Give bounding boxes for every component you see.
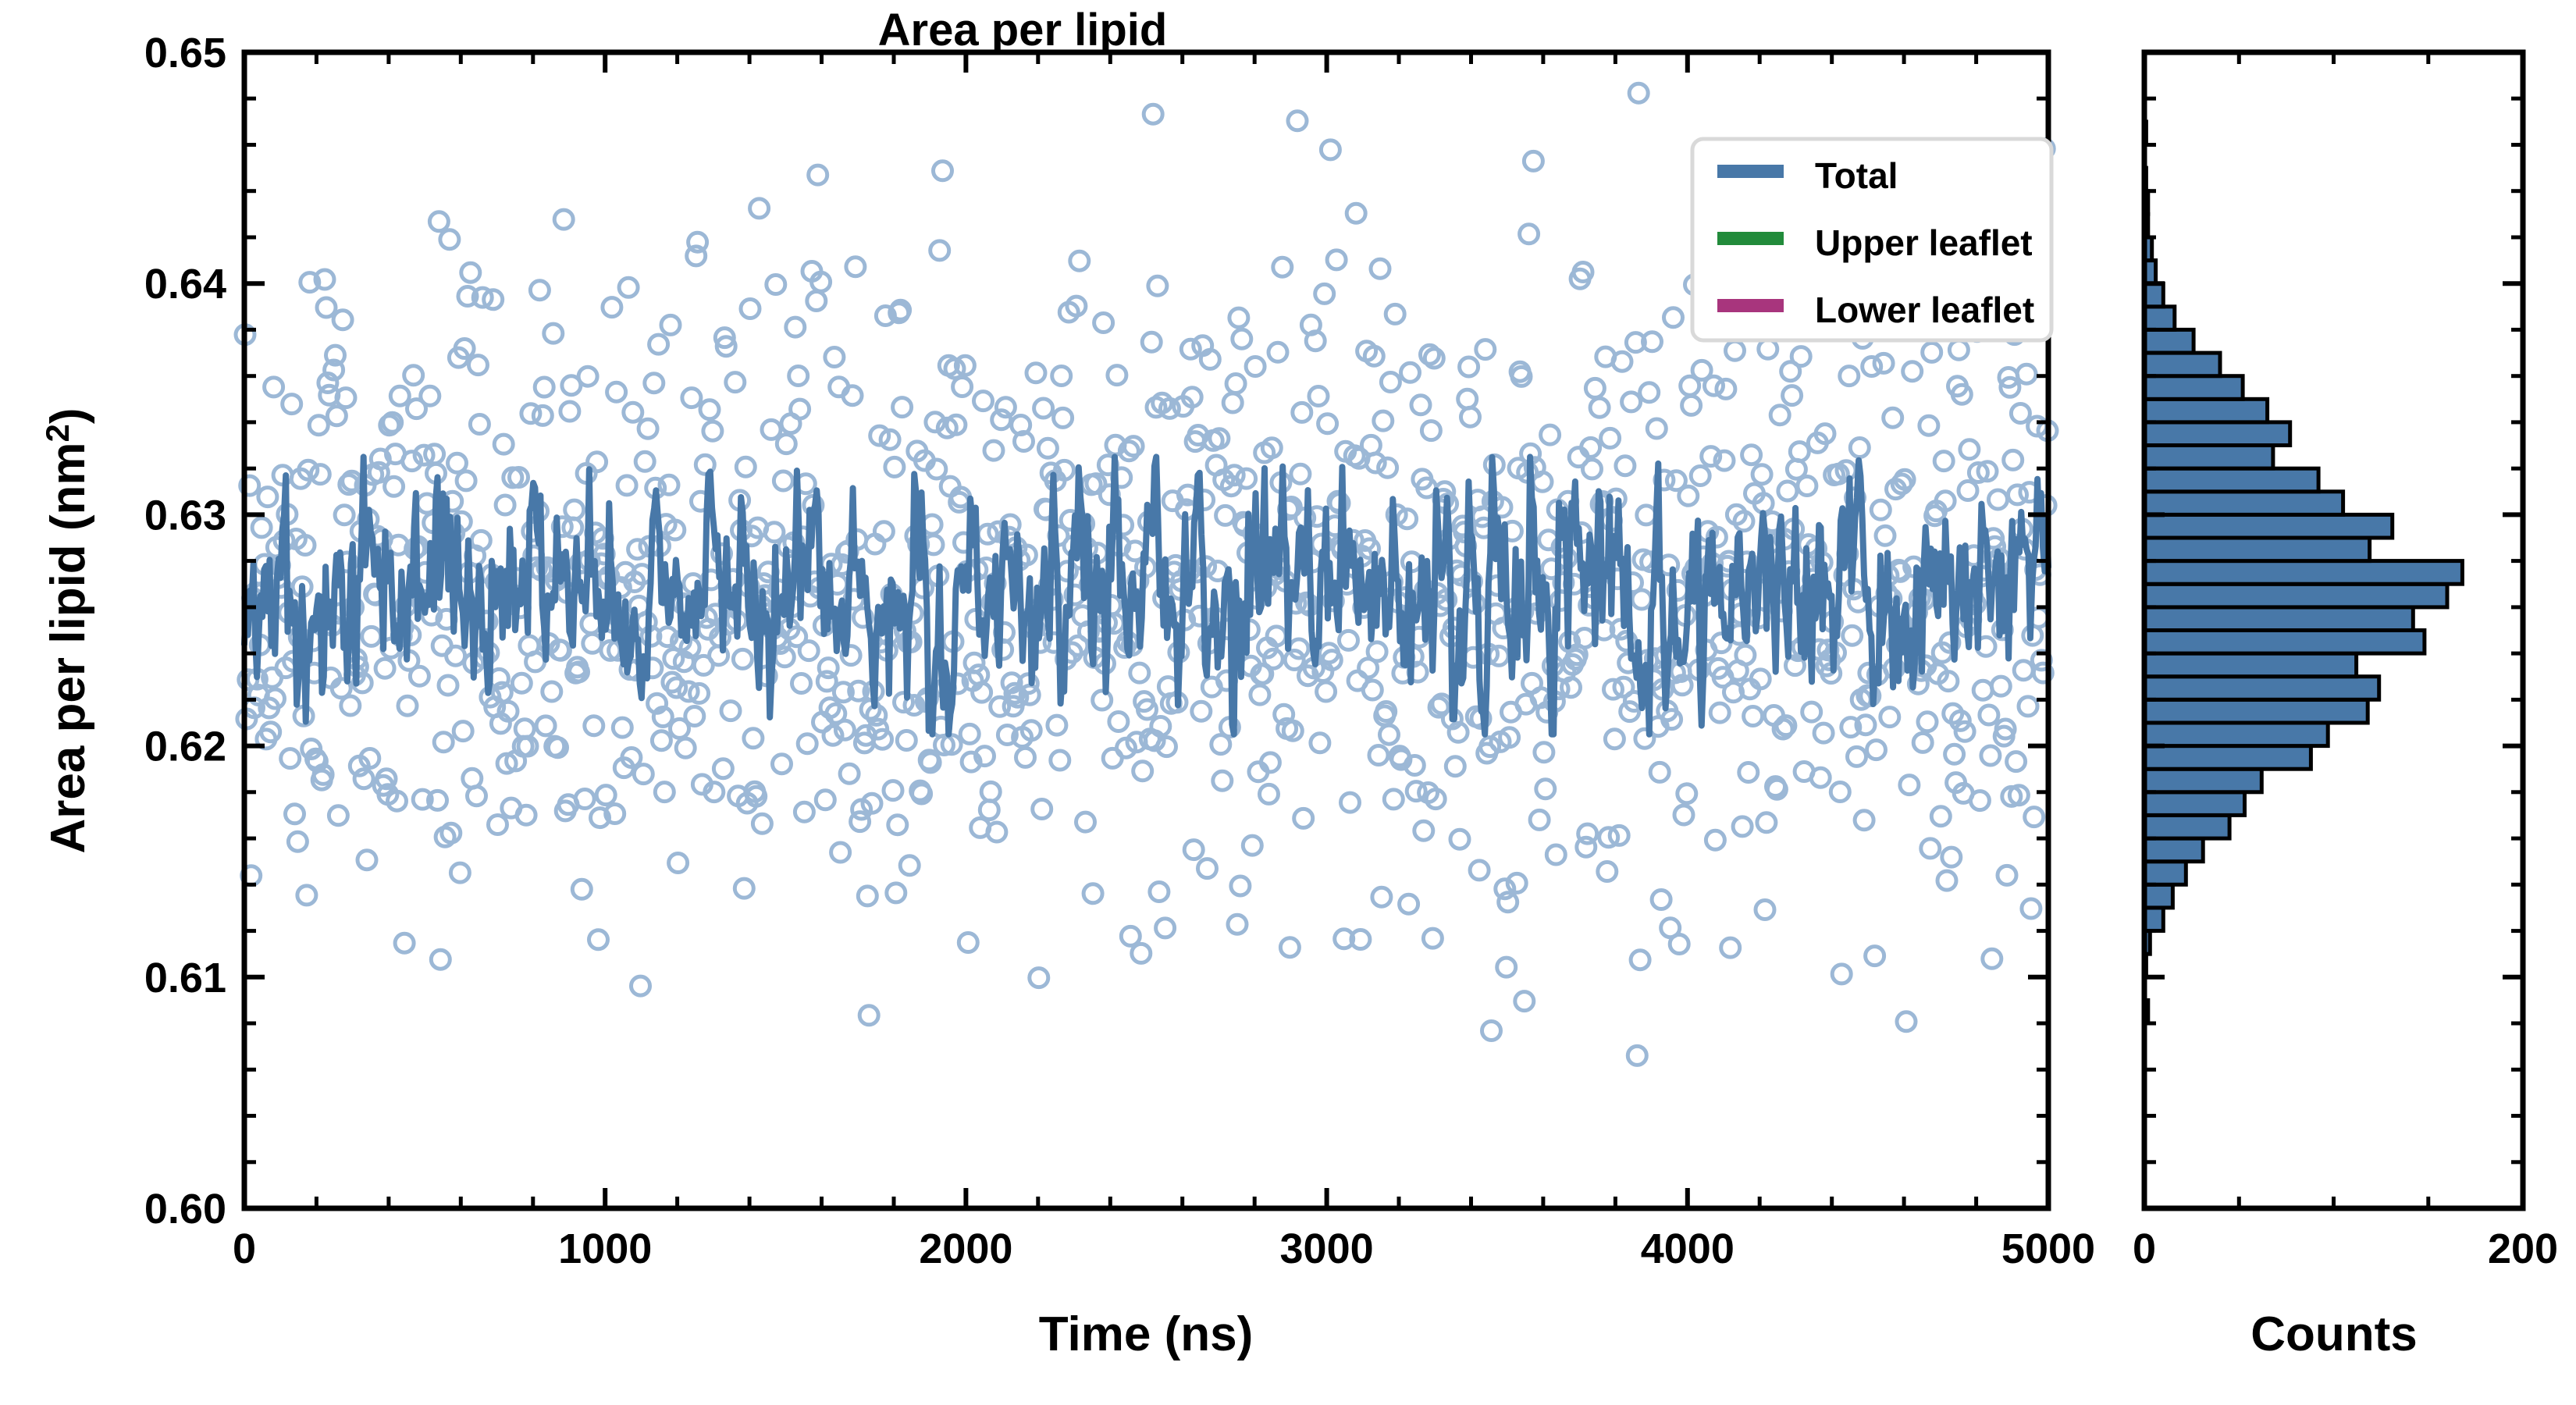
histogram-bar bbox=[2144, 353, 2220, 376]
histogram-bar bbox=[2144, 723, 2328, 746]
legend[interactable]: Total Upper leaflet Lower leaflet bbox=[1692, 139, 2051, 340]
histogram-bar bbox=[2144, 677, 2379, 700]
legend-swatch-total bbox=[1717, 165, 1784, 178]
y-tick-label: 0.62 bbox=[144, 724, 226, 770]
main-y-axis-label: Area per lipid (nm2) bbox=[39, 407, 95, 853]
x-tick-label: 0 bbox=[233, 1225, 256, 1272]
hist-x-tick-label: 200 bbox=[2488, 1225, 2558, 1272]
histogram-bar bbox=[2144, 769, 2261, 792]
x-tick-label: 2000 bbox=[919, 1225, 1012, 1272]
histogram-bar bbox=[2144, 561, 2462, 585]
legend-label-lower-leaflet: Lower leaflet bbox=[1815, 290, 2034, 330]
histogram-bar bbox=[2144, 283, 2163, 307]
histogram-bar bbox=[2144, 422, 2290, 446]
histogram-bar bbox=[2144, 884, 2172, 908]
histogram-bar bbox=[2144, 538, 2370, 561]
histogram-bar bbox=[2144, 816, 2229, 839]
histogram-bar bbox=[2144, 584, 2447, 607]
legend-label-upper-leaflet: Upper leaflet bbox=[1815, 222, 2033, 263]
y-axis-label-tail: ) bbox=[41, 407, 95, 424]
histogram-bar bbox=[2144, 908, 2163, 931]
y-tick-label: 0.64 bbox=[144, 261, 226, 308]
chart-title: Area per lipid bbox=[878, 5, 1168, 55]
figure-root: Area per lipid 010002000300040005000 0.6… bbox=[0, 0, 2576, 1405]
histogram-bar bbox=[2144, 376, 2243, 400]
legend-label-total: Total bbox=[1815, 155, 1898, 196]
histogram-bar bbox=[2144, 838, 2203, 862]
histogram-bar bbox=[2144, 446, 2273, 469]
histogram-bar bbox=[2144, 746, 2311, 770]
legend-swatch-upper-leaflet bbox=[1717, 232, 1784, 245]
histogram-bar bbox=[2144, 329, 2194, 353]
histogram-x-axis-label: Counts bbox=[2250, 1307, 2418, 1361]
histogram-bar bbox=[2144, 699, 2368, 723]
main-x-axis-label: Time (ns) bbox=[1039, 1307, 1253, 1361]
chart-svg: Area per lipid 010002000300040005000 0.6… bbox=[0, 0, 2576, 1405]
y-tick-label: 0.61 bbox=[144, 955, 226, 1001]
x-tick-label: 5000 bbox=[2001, 1225, 2095, 1272]
svg-text:Area per lipid (nm2): Area per lipid (nm2) bbox=[39, 407, 95, 853]
histogram-bar bbox=[2144, 607, 2413, 631]
y-axis-label-superscript: 2 bbox=[39, 424, 76, 442]
x-tick-label: 1000 bbox=[558, 1225, 652, 1272]
histogram-bar bbox=[2144, 492, 2343, 515]
y-tick-label: 0.63 bbox=[144, 492, 226, 539]
x-tick-label: 3000 bbox=[1280, 1225, 1374, 1272]
y-axis-label-main: Area per lipid (nm bbox=[41, 442, 95, 853]
histogram-bar bbox=[2144, 792, 2245, 816]
y-tick-label: 0.65 bbox=[144, 30, 226, 76]
histogram-bar bbox=[2144, 399, 2268, 422]
hist-x-tick-label: 0 bbox=[2133, 1225, 2156, 1272]
histogram-bar bbox=[2144, 514, 2393, 538]
legend-swatch-lower-leaflet bbox=[1717, 299, 1784, 312]
histogram-bar bbox=[2144, 307, 2175, 330]
histogram-bar bbox=[2144, 862, 2186, 885]
histogram-bar bbox=[2144, 653, 2357, 677]
x-tick-label: 4000 bbox=[1641, 1225, 1735, 1272]
y-tick-label: 0.60 bbox=[144, 1186, 226, 1232]
histogram-bar bbox=[2144, 468, 2318, 492]
histogram-bar bbox=[2144, 631, 2425, 654]
